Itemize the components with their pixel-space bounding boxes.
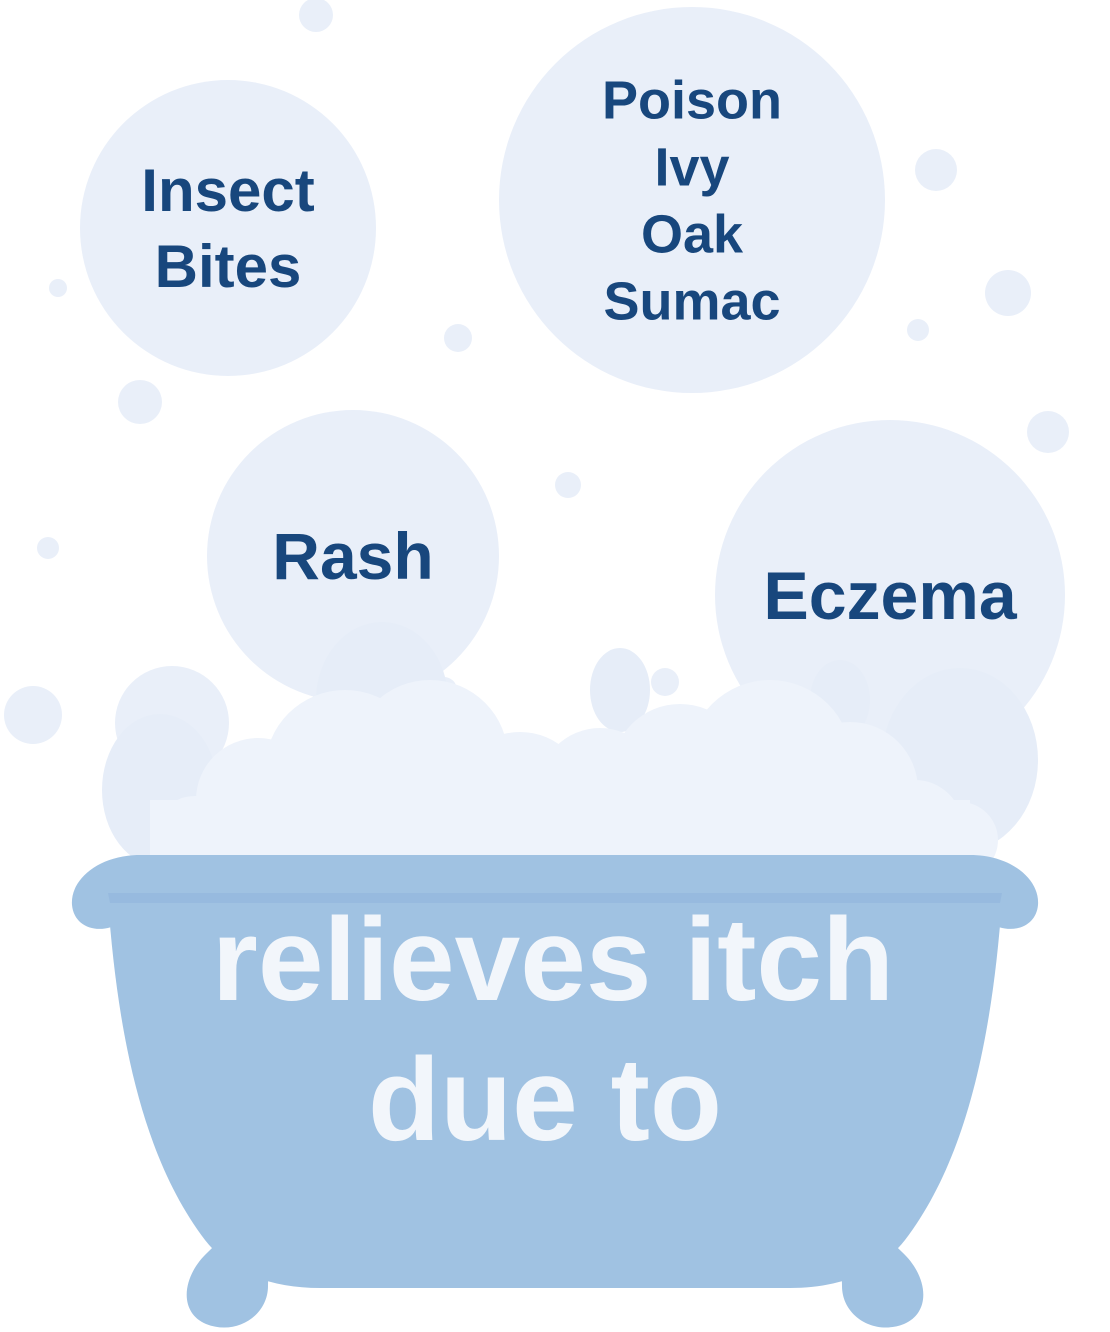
bubble-label-eczema-line-1: Eczema xyxy=(763,558,1017,634)
poster-canvas: InsectBitesPoisonIvyOakSumacRashEczema r… xyxy=(0,0,1110,1332)
bathtub-group: relieves itch due to xyxy=(72,855,1038,1328)
bubble-label-insect-bites-line-2: Bites xyxy=(155,233,302,300)
decorative-bubble-speck-left-lower xyxy=(37,537,59,559)
bubble-label-poison-ivy-oak-sumac-line-3: Oak xyxy=(641,204,744,264)
decorative-bubble-speck-right-lower xyxy=(1027,411,1069,453)
decorative-bubble-speck-center-right-lower xyxy=(651,668,679,696)
decorative-bubble-speck-right-upper xyxy=(915,149,957,191)
decorative-bubble-speck-center-mid xyxy=(555,472,581,498)
bubble-label-insect-bites-line-1: Insect xyxy=(141,157,314,224)
decorative-bubble-speck-left-upper xyxy=(49,279,67,297)
bubble-insect-bites: InsectBites xyxy=(80,80,376,376)
tub-line-due-to: due to xyxy=(368,1034,722,1166)
decorative-bubble-speck-center-upper xyxy=(444,324,472,352)
decorative-bubble-speck-right-mid xyxy=(985,270,1031,316)
decorative-bubble-speck-right-small xyxy=(907,319,929,341)
bubble-circle-insect-bites xyxy=(80,80,376,376)
bubble-label-poison-ivy-oak-sumac-line-4: Sumac xyxy=(603,271,780,331)
tub-line-relieves-itch: relieves itch xyxy=(212,894,894,1026)
decorative-bubble-speck-left-mid xyxy=(118,380,162,424)
bubble-label-poison-ivy-oak-sumac-line-2: Ivy xyxy=(654,137,729,197)
bubble-poison-ivy-oak-sumac: PoisonIvyOakSumac xyxy=(499,7,885,393)
decorative-bubble-speck-left-bottom xyxy=(4,686,62,744)
bubble-label-rash-line-1: Rash xyxy=(272,519,433,593)
illustration-root: InsectBitesPoisonIvyOakSumacRashEczema r… xyxy=(0,0,1110,1332)
bubble-label-poison-ivy-oak-sumac-line-1: Poison xyxy=(602,70,782,130)
bubble-circle-poison-ivy-oak-sumac xyxy=(499,7,885,393)
